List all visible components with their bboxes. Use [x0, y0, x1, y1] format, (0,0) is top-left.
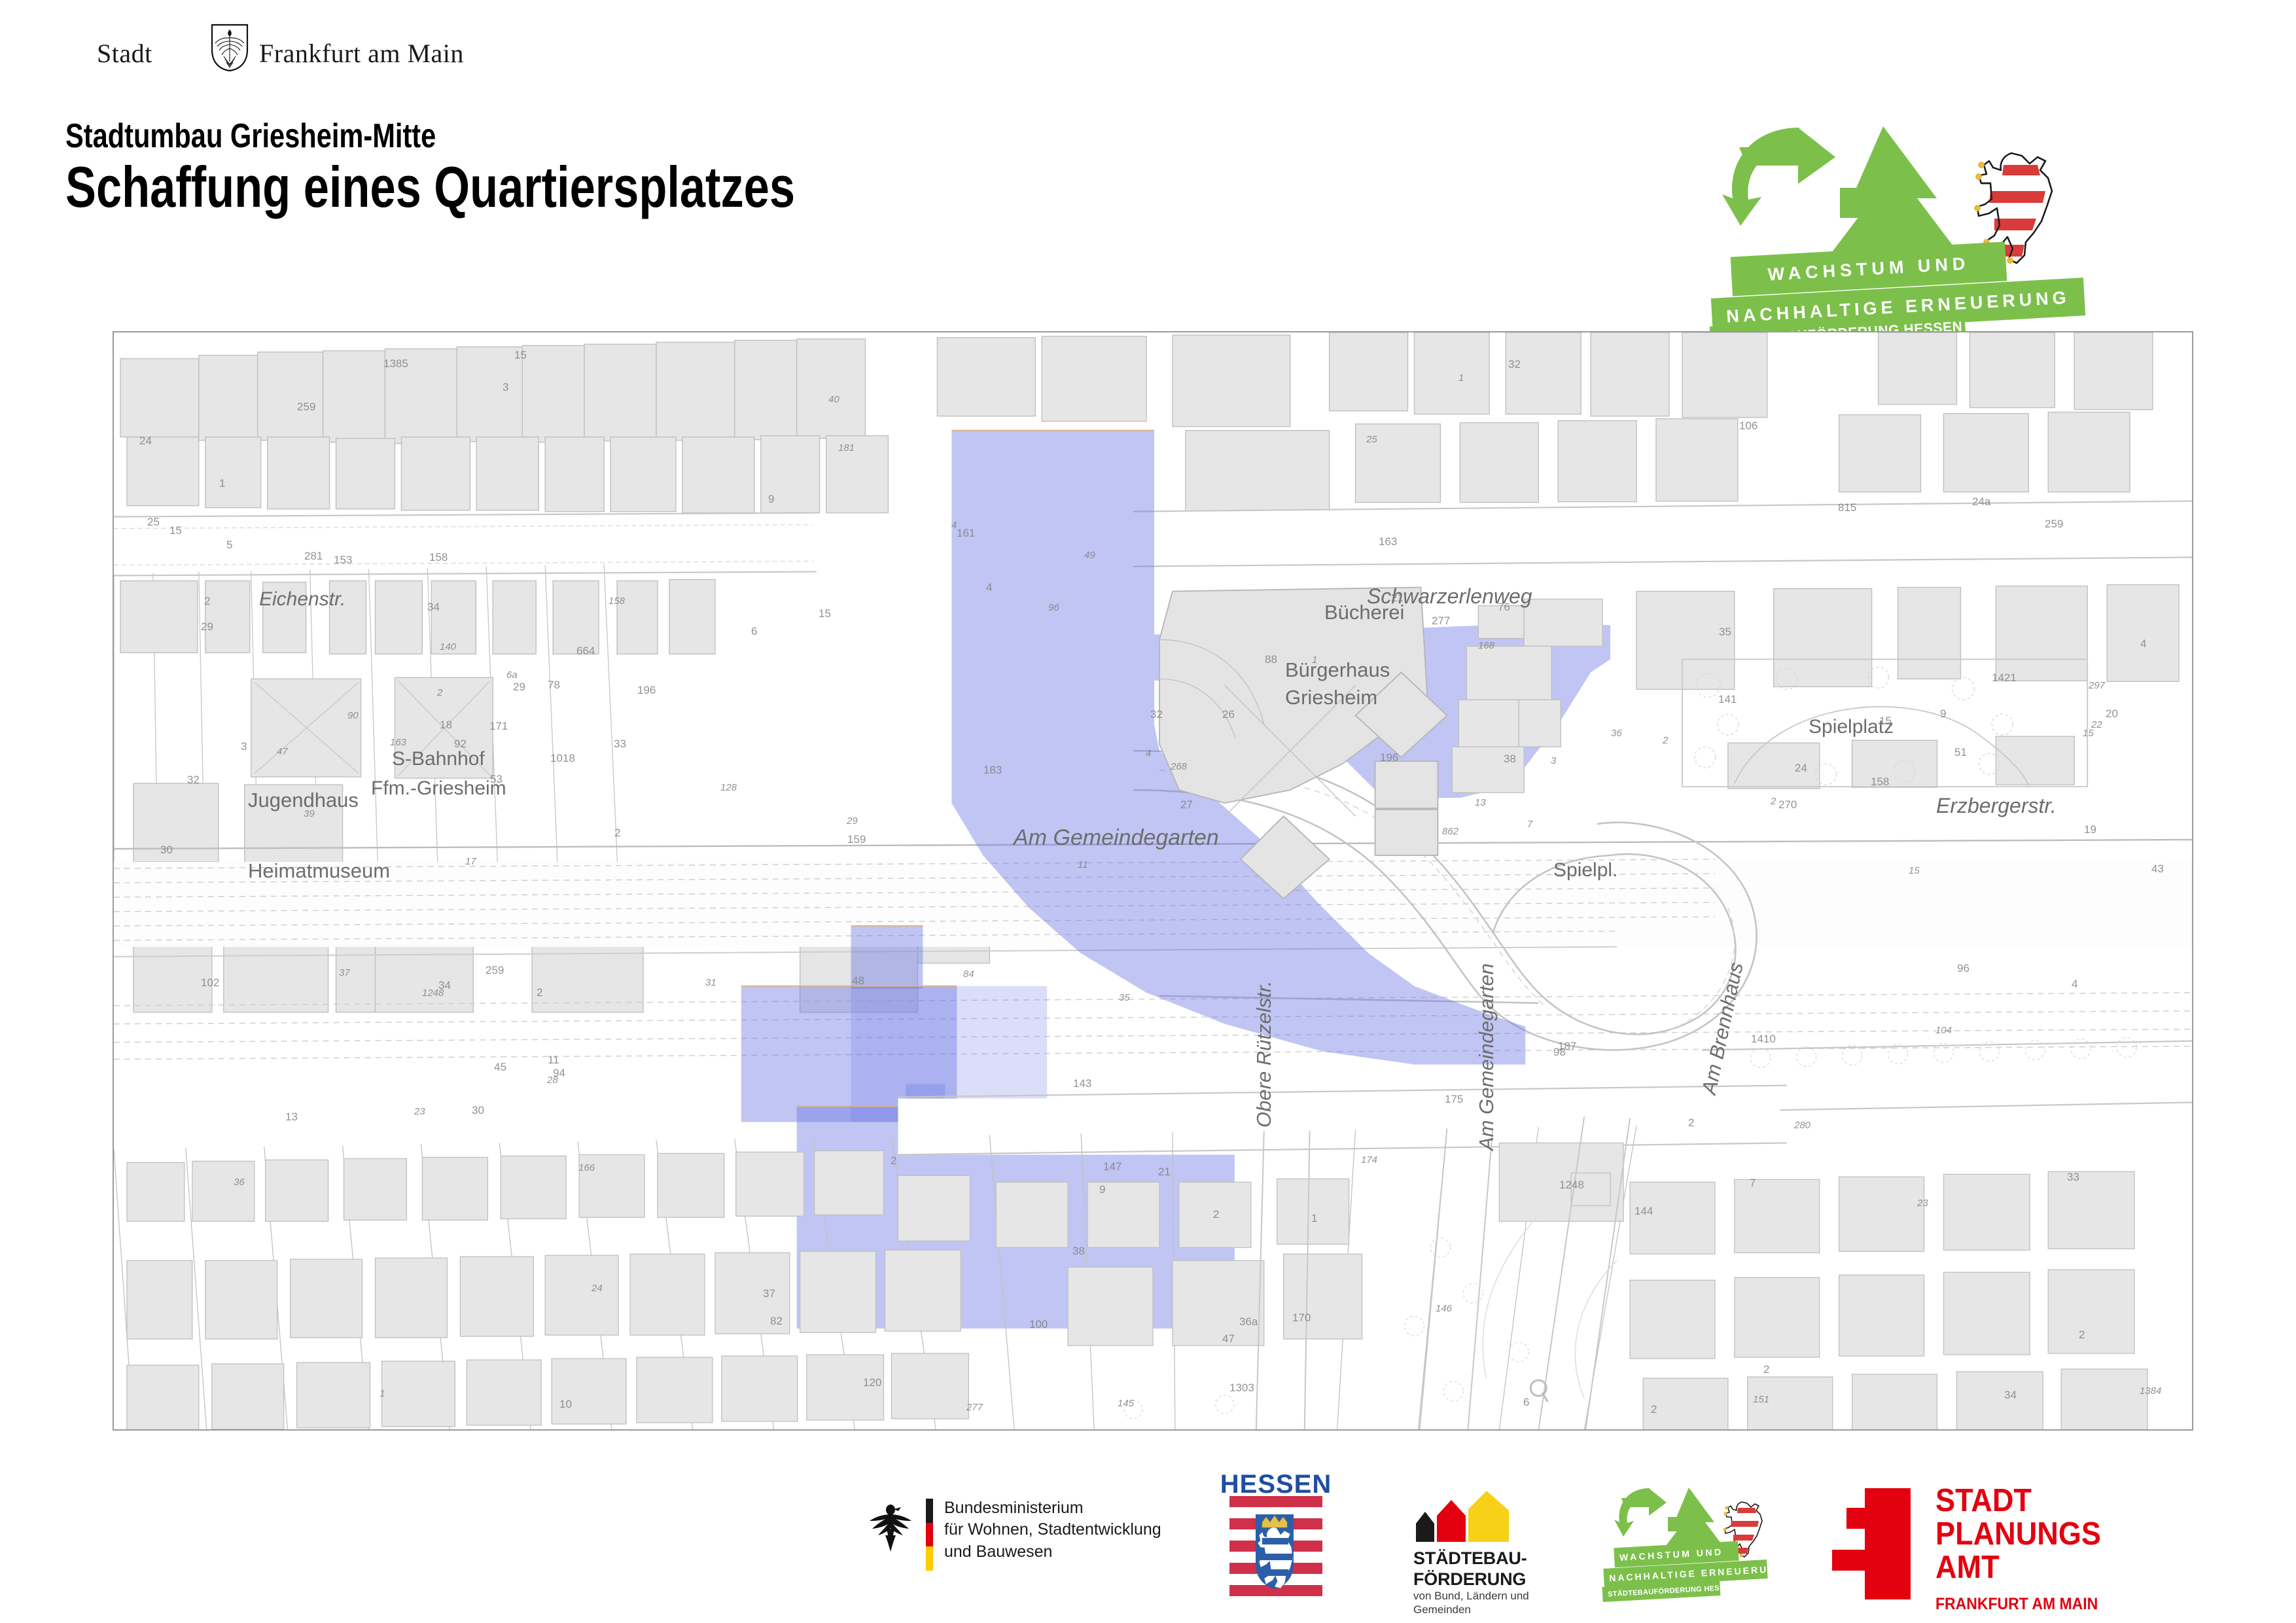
parcel-number: 22: [2091, 719, 2102, 730]
parcel-number: 158: [429, 551, 448, 564]
staedtebau-sub: von Bund, Ländern und Gemeinden: [1413, 1589, 1529, 1617]
hessen-label: HESSEN: [1214, 1470, 1338, 1499]
parcel-number: 1: [1312, 654, 1317, 666]
parcel-number: 11: [1078, 859, 1088, 870]
staedtebau-sub2: Gemeinden: [1413, 1603, 1471, 1616]
parcel-number: 171: [489, 720, 508, 733]
parcel-number: 32: [1508, 358, 1521, 371]
map-label: S-Bahnhof: [392, 748, 485, 770]
staedtebau-line2: FÖRDERUNG: [1413, 1569, 1526, 1589]
map-label: Am Gemeindegarten: [1475, 963, 1498, 1150]
parcel-number: 1421: [1992, 671, 2017, 685]
parcel-number: 2: [1651, 1403, 1657, 1416]
parcel-number: 9: [768, 493, 774, 506]
parcel-number: 158: [1871, 776, 1889, 789]
parcel-number: 28: [547, 1075, 558, 1086]
parcel-number: 1303: [1229, 1382, 1254, 1395]
parcel-number: 259: [2045, 518, 2063, 531]
parcel-number: 96: [1048, 602, 1059, 613]
three-houses-icon: [1413, 1491, 1511, 1542]
spa-line3: AMT: [1935, 1551, 2101, 1584]
parcel-number: 259: [297, 401, 315, 414]
parcel-number: 281: [304, 550, 323, 563]
spa-line1: STADT: [1935, 1484, 2101, 1518]
parcel-number: 1410: [1751, 1033, 1776, 1046]
parcel-number: 2: [614, 827, 620, 840]
parcel-number: 20: [2106, 707, 2118, 721]
map-label: Griesheim: [1285, 686, 1377, 709]
spa-sub: FRANKFURT AM MAIN: [1935, 1595, 2101, 1614]
parcel-number: 49: [1084, 550, 1095, 561]
parcel-number: 15: [819, 607, 831, 620]
parcel-number: 174: [1361, 1154, 1377, 1166]
bundesadler-icon: [867, 1501, 914, 1552]
parcel-number: 2: [1663, 735, 1668, 746]
parcel-number: 862: [1442, 826, 1458, 837]
parcel-number: 815: [1838, 501, 1856, 514]
parcel-number: 21: [1158, 1166, 1171, 1179]
parcel-number: 36: [234, 1177, 245, 1188]
parcel-number: 35: [1719, 626, 1731, 639]
city-logo-word-frankfurt: Frankfurt am Main: [259, 38, 464, 69]
wachstum-erneuerung-logo-small: WACHSTUM UND NACHHALTIGE ERNEUERUNG STÄD…: [1606, 1486, 1796, 1607]
parcel-number: 88: [1265, 653, 1277, 666]
map-label: Heimatmuseum: [248, 859, 390, 883]
parcel-number: 39: [304, 808, 315, 819]
parcel-number: 7: [1527, 819, 1532, 830]
parcel-number: 1248: [1559, 1179, 1584, 1192]
staedtebau-line1: STÄDTEBAU-: [1413, 1548, 1527, 1568]
parcel-number: 277: [1432, 615, 1450, 628]
page-title: Schaffung eines Quartiersplatzes: [65, 154, 795, 221]
parcel-number: 196: [637, 684, 656, 697]
parcel-number: 141: [1718, 693, 1737, 706]
parcel-number: 35: [1119, 992, 1130, 1003]
parcel-number: 92: [454, 738, 467, 751]
parcel-number: 2: [537, 986, 542, 999]
parcel-number: 100: [1029, 1318, 1048, 1331]
parcel-number: 51: [1954, 746, 1967, 759]
staedtebau-label: STÄDTEBAU- FÖRDERUNG: [1413, 1548, 1527, 1590]
cadastral-map[interactable]: Eichenstr.SchwarzerlenwegBüchereiBürgerh…: [113, 331, 2193, 1431]
parcel-number: 128: [720, 782, 737, 793]
parcel-number: 1: [219, 477, 225, 490]
parcel-number: 147: [1103, 1160, 1122, 1173]
parcel-number: 18: [440, 719, 452, 732]
parcel-number: 43: [2151, 863, 2164, 876]
parcel-number: 47: [277, 746, 288, 757]
spa-line2: PLANUNGS: [1935, 1518, 2101, 1551]
parcel-number: 32: [187, 774, 200, 787]
parcel-number: 151: [1753, 1394, 1769, 1405]
parcel-number: 270: [1778, 798, 1797, 811]
parcel-number: 7: [1750, 1177, 1756, 1190]
parcel-number: 38: [1072, 1245, 1085, 1258]
hessen-logo: HESSEN: [1214, 1474, 1338, 1601]
map-vector-layer: [114, 332, 2192, 1431]
parcel-number: 34: [427, 601, 440, 614]
parcel-number: 175: [1445, 1093, 1463, 1106]
parcel-number: 297: [2089, 680, 2105, 691]
parcel-number: 196: [1380, 751, 1398, 764]
parcel-number: 36: [1611, 728, 1622, 739]
parcel-number: 78: [548, 679, 560, 692]
parcel-number: 36a: [1239, 1315, 1258, 1329]
staedtebau-sub1: von Bund, Ländern und: [1413, 1590, 1529, 1602]
parcel-number: 143: [1073, 1077, 1091, 1090]
parcel-number: 145: [1118, 1398, 1134, 1409]
parcel-number: 9: [1099, 1183, 1105, 1196]
staedtebaufoerderung-logo: STÄDTEBAU- FÖRDERUNG von Bund, Ländern u…: [1400, 1491, 1551, 1606]
parcel-number: 1018: [550, 752, 575, 765]
parcel-number: 664: [576, 645, 595, 658]
parcel-number: 6a: [506, 669, 518, 681]
parcel-number: 159: [847, 833, 866, 846]
parcel-number: 2: [1771, 796, 1776, 807]
map-label: Ffm.-Griesheim: [371, 777, 506, 800]
parcel-number: 277: [966, 1402, 983, 1413]
stadtplanungsamt-logo: STADT PLANUNGS AMT FRANKFURT AM MAIN: [1832, 1486, 2172, 1610]
parcel-number: 24: [139, 435, 152, 448]
hessen-flag-icon: [1229, 1496, 1322, 1601]
parcel-number: 104: [1935, 1025, 1952, 1036]
parcel-number: 37: [339, 967, 350, 978]
bmwsb-label: Bundesministerium für Wohnen, Stadtentwi…: [944, 1497, 1161, 1563]
parcel-number: 27: [1180, 798, 1193, 811]
stadtplanungsamt-label: STADT PLANUNGS AMT FRANKFURT AM MAIN: [1935, 1484, 2115, 1614]
parcel-number: 84: [963, 969, 974, 980]
parcel-number: 1: [1458, 372, 1464, 383]
parcel-number: 4: [1146, 748, 1151, 759]
parcel-number: 24: [592, 1283, 603, 1294]
parcel-number: 181: [838, 442, 855, 454]
frankfurt-eagle-shield-icon: [211, 24, 249, 72]
parcel-number: 102: [201, 976, 219, 990]
parcel-number: 48: [852, 974, 864, 988]
parcel-number: 24a: [1972, 495, 1990, 508]
parcel-number: 24: [1795, 762, 1807, 775]
parcel-number: 33: [2067, 1171, 2079, 1184]
parcel-number: 15: [1909, 865, 1920, 876]
parcel-number: 15: [514, 349, 527, 362]
parcel-number: 82: [770, 1315, 783, 1328]
parcel-number: 2: [437, 687, 442, 698]
map-label: Eichenstr.: [259, 588, 345, 611]
parcel-number: 30: [472, 1104, 484, 1117]
parcel-number: 259: [486, 964, 504, 977]
parcel-number: 2: [204, 595, 210, 608]
parcel-number: 144: [1634, 1205, 1653, 1218]
parcel-number: 34: [438, 979, 451, 992]
map-label: Am Gemeindegarten: [1014, 825, 1219, 851]
stadtplanungsamt-mark-icon: [1832, 1488, 1911, 1599]
parcel-number: 120: [863, 1376, 881, 1389]
parcel-number: 146: [1436, 1303, 1452, 1314]
parcel-number: 34: [2004, 1389, 2017, 1402]
recycle-tree-arrow-icon: [1721, 121, 1996, 259]
parcel-number: 23: [1917, 1198, 1928, 1209]
map-label: Obere Rützelstr.: [1252, 980, 1276, 1128]
parcel-number: 168: [1478, 640, 1494, 651]
parcel-number: 158: [609, 596, 625, 607]
parcel-number: 2: [1688, 1116, 1694, 1130]
parcel-number: 90: [347, 710, 359, 721]
parcel-number: 15: [169, 524, 182, 537]
parcel-number: 3: [241, 740, 247, 753]
parcel-number: 2: [1763, 1363, 1769, 1376]
parcel-number: 53: [490, 773, 503, 786]
parcel-number: 170: [1292, 1311, 1311, 1325]
parcel-number: 1385: [383, 357, 408, 370]
parcel-number: 1: [1311, 1212, 1317, 1225]
parcel-number: 40: [828, 394, 839, 405]
parcel-number: 280: [1794, 1120, 1810, 1131]
parcel-number: 4: [2072, 978, 2077, 991]
parcel-number: 153: [334, 554, 352, 567]
parcel-number: 3: [503, 381, 508, 394]
parcel-number: 163: [390, 737, 406, 748]
page-subtitle: Stadtumbau Griesheim-Mitte: [65, 116, 436, 156]
bmwsb-logo: Bundesministerium für Wohnen, Stadtentwi…: [867, 1492, 1174, 1577]
parcel-number: 2: [891, 1154, 896, 1168]
parcel-number: 1384: [2140, 1385, 2161, 1397]
parcel-number: 17: [465, 856, 476, 867]
parcel-number: 4: [986, 581, 992, 594]
parcel-number: 47: [1222, 1332, 1235, 1346]
bmwsb-line1: Bundesministerium: [944, 1499, 1084, 1517]
parcel-number: 1: [380, 1388, 385, 1399]
parcel-number: 25: [1366, 434, 1377, 445]
parcel-number: 106: [1739, 419, 1757, 433]
parcel-number: 30: [160, 844, 173, 857]
parcel-number: 31: [705, 977, 716, 988]
german-flag-bar-icon: [926, 1499, 933, 1571]
map-label: Erzbergerstr.: [1936, 794, 2057, 818]
parcel-number: 2: [2079, 1329, 2085, 1342]
parcel-number: 161: [957, 527, 975, 540]
parcel-number: 183: [983, 764, 1002, 777]
parcel-number: 23: [414, 1106, 425, 1117]
parcel-number: 187: [1558, 1040, 1576, 1053]
parcel-number: 5: [226, 539, 232, 552]
bmwsb-line2: für Wohnen, Stadtentwicklung: [944, 1520, 1161, 1539]
parcel-number: 19: [2084, 823, 2096, 836]
parcel-number: 140: [440, 641, 456, 652]
parcel-number: 163: [1379, 535, 1397, 548]
parcel-number: 6: [751, 625, 757, 638]
parcel-number: 21: [1391, 592, 1404, 605]
parcel-number: 4: [2140, 637, 2146, 651]
parcel-number: 33: [614, 738, 626, 751]
parcel-number: 3: [1551, 755, 1556, 766]
parcel-number: 76: [1498, 601, 1510, 614]
parcel-number: 6: [1523, 1396, 1529, 1409]
parcel-number: 96: [1957, 962, 1969, 975]
city-logo: Stadt Frankfurt am Main: [97, 27, 516, 72]
parcel-number: 45: [494, 1061, 506, 1074]
parcel-number: 11: [548, 1054, 559, 1067]
parcel-number: 13: [1475, 797, 1486, 808]
parcel-number: 29: [513, 681, 525, 694]
parcel-number: 268: [1171, 761, 1187, 772]
parcel-number: 25: [147, 516, 160, 529]
parcel-number: 32: [1150, 708, 1163, 721]
parcel-number: 10: [559, 1398, 572, 1411]
parcel-number: 166: [578, 1162, 595, 1173]
parcel-number: 29: [847, 815, 858, 827]
parcel-number: 26: [1222, 708, 1235, 721]
recycle-tree-arrow-icon: [1613, 1486, 1737, 1551]
parcel-number: 15: [1879, 715, 1892, 728]
city-logo-word-stadt: Stadt: [97, 38, 152, 69]
parcel-number: 37: [763, 1287, 775, 1300]
parcel-number: 13: [285, 1111, 298, 1124]
map-label: Bürgerhaus: [1285, 658, 1390, 682]
parcel-number: 38: [1504, 753, 1516, 766]
footer-logo-bar: Bundesministerium für Wohnen, Stadtentwi…: [0, 1472, 2296, 1623]
parcel-number: 29: [201, 620, 213, 633]
parcel-number: 9: [1940, 707, 1946, 721]
bmwsb-line3: und Bauwesen: [944, 1543, 1052, 1561]
parcel-number: 2: [1213, 1208, 1219, 1221]
hessen-crest-icon: [1254, 1513, 1295, 1590]
map-label: Spielpl.: [1553, 859, 1617, 882]
